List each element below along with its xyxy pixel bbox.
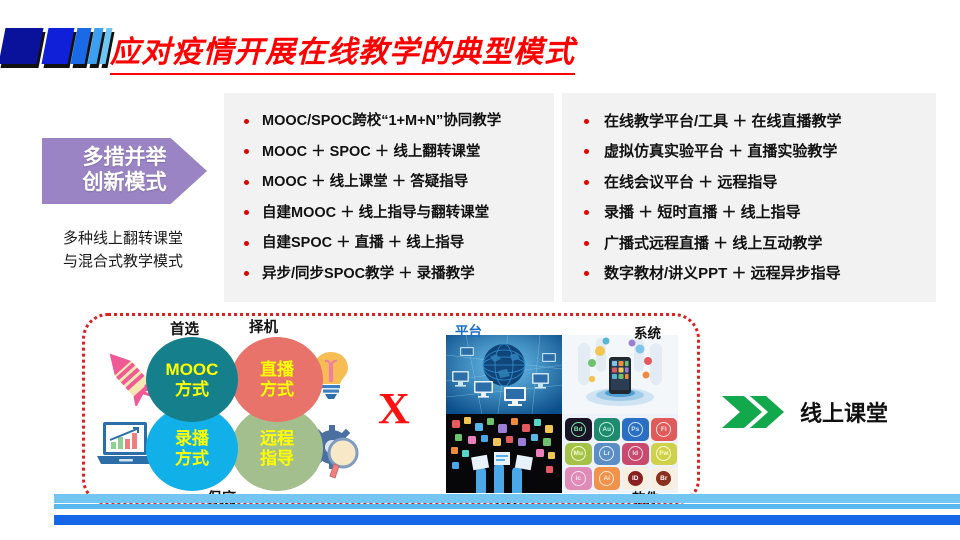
result-arrow-icon (722, 396, 788, 428)
list-item: MOOC/SPOC跨校“1+M+N”协同教学 (224, 106, 554, 137)
left-callout-chevron: 多措并举 创新模式 (42, 138, 207, 204)
list-item: 录播 ＋ 短时直播 ＋ 线上指导 (562, 198, 936, 229)
system-device-image (562, 335, 678, 414)
list-item: 异步/同步SPOC教学 ＋ 录播教学 (224, 259, 554, 290)
venn-circle-mooc: MOOC 方式 (146, 337, 238, 422)
bullet-panel-right: 在线教学平台/工具 ＋ 在线直播教学 虚拟仿真实验平台 ＋ 直播实验教学 在线会… (562, 93, 936, 302)
app-icon-lr-label: Lr (599, 446, 614, 461)
venn-remote-line2: 指导 (260, 449, 294, 468)
bullet-list-left: MOOC/SPOC跨校“1+M+N”协同教学 MOOC ＋ SPOC ＋ 线上翻… (224, 93, 554, 289)
app-icon-ps: Ps (622, 418, 649, 441)
app-icon-id: Id (622, 443, 649, 466)
list-item: 自建SPOC ＋ 直播 ＋ 线上指导 (224, 228, 554, 259)
app-icon-au-label: Au (599, 422, 614, 437)
venn-mooc-line1: MOOC (166, 360, 219, 379)
app-icon-ai-label: Ai (599, 471, 614, 486)
app-icon-ai: Ai (594, 467, 621, 490)
page-title: 应对疫情开展在线教学的典型模式 (110, 27, 575, 75)
app-icon-fl: Fl (651, 418, 678, 441)
result-label: 线上课堂 (800, 396, 888, 428)
image-grid-label-system: 系统 (634, 322, 661, 342)
app-icon-id2-label: ID (628, 471, 643, 486)
app-icon-bd: Bd (565, 418, 592, 441)
app-icon-au: Au (594, 418, 621, 441)
venn-record-line2: 方式 (175, 449, 209, 468)
left-callout-subtext: 多种线上翻转课堂 与混合式教学模式 (28, 228, 218, 273)
bottom-bar-mid (54, 504, 960, 509)
venn-record-line1: 录播 (175, 429, 209, 448)
app-icon-bd-label: Bd (571, 422, 586, 437)
app-icon-fw: Fw (651, 443, 678, 466)
list-item: MOOC ＋ SPOC ＋ 线上翻转课堂 (224, 137, 554, 168)
image-grid-label-platform: 平台 (455, 320, 482, 340)
venn-live-line2: 方式 (260, 380, 294, 399)
software-icons-image: Bd Au Ps Fl Mu Lr Id Fw Ic Ai ID Br (562, 414, 678, 493)
image-grid: Bd Au Ps Fl Mu Lr Id Fw Ic Ai ID Br (446, 335, 678, 493)
page-title-text: 应对疫情开展在线教学的典型模式 (110, 27, 575, 75)
bullet-list-right: 在线教学平台/工具 ＋ 在线直播教学 虚拟仿真实验平台 ＋ 直播实验教学 在线会… (562, 93, 936, 289)
list-item: 广播式远程直播 ＋ 线上互动教学 (562, 228, 936, 259)
left-callout-sub-line1: 多种线上翻转课堂 (28, 228, 218, 251)
bottom-bar-strong (54, 515, 960, 525)
venn-remote-line1: 远程 (260, 429, 294, 448)
app-icon-ps-label: Ps (628, 422, 643, 437)
app-icon-mu-label: Mu (571, 446, 586, 461)
venn-live-line1: 直播 (260, 360, 294, 379)
app-icon-fw-label: Fw (656, 446, 671, 461)
slide-root: 应对疫情开展在线教学的典型模式 多措并举 创新模式 多种线上翻转课堂 与混合式教… (0, 0, 960, 540)
app-icon-br-label: Br (656, 471, 671, 486)
app-icon-lr: Lr (594, 443, 621, 466)
bullet-panel-left: MOOC/SPOC跨校“1+M+N”协同教学 MOOC ＋ SPOC ＋ 线上翻… (224, 93, 554, 302)
list-item: 虚拟仿真实验平台 ＋ 直播实验教学 (562, 137, 936, 168)
left-callout-line1: 多措并举 (83, 146, 167, 171)
list-item: 数字教材/讲义PPT ＋ 远程异步指导 (562, 259, 936, 290)
venn-label-top-right: 择机 (249, 316, 278, 337)
app-icon-mu: Mu (565, 443, 592, 466)
list-item: 自建MOOC ＋ 线上指导与翻转课堂 (224, 198, 554, 229)
list-item: 在线会议平台 ＋ 远程指导 (562, 167, 936, 198)
venn-circle-live: 直播 方式 (231, 337, 323, 422)
app-icon-fl-label: Fl (656, 422, 671, 437)
app-icon-id-label: Id (628, 446, 643, 461)
adobe-icon-grid: Bd Au Ps Fl Mu Lr Id Fw Ic Ai ID Br (565, 418, 677, 490)
venn-mooc-line2: 方式 (175, 380, 209, 399)
app-icon-ic: Ic (565, 467, 592, 490)
left-callout-sub-line2: 与混合式教学模式 (28, 251, 218, 274)
platform-globe-image (446, 335, 562, 414)
list-item: MOOC ＋ 线上课堂 ＋ 答疑指导 (224, 167, 554, 198)
app-icon-ic-label: Ic (571, 471, 586, 486)
venn-label-top-left: 首选 (170, 318, 199, 339)
multiply-symbol: X (378, 387, 410, 431)
tools-apps-image (446, 414, 562, 493)
left-callout-line2: 创新模式 (83, 171, 167, 196)
bottom-bar-light (54, 494, 960, 503)
list-item: 在线教学平台/工具 ＋ 在线直播教学 (562, 106, 936, 137)
title-decoration (2, 28, 114, 68)
